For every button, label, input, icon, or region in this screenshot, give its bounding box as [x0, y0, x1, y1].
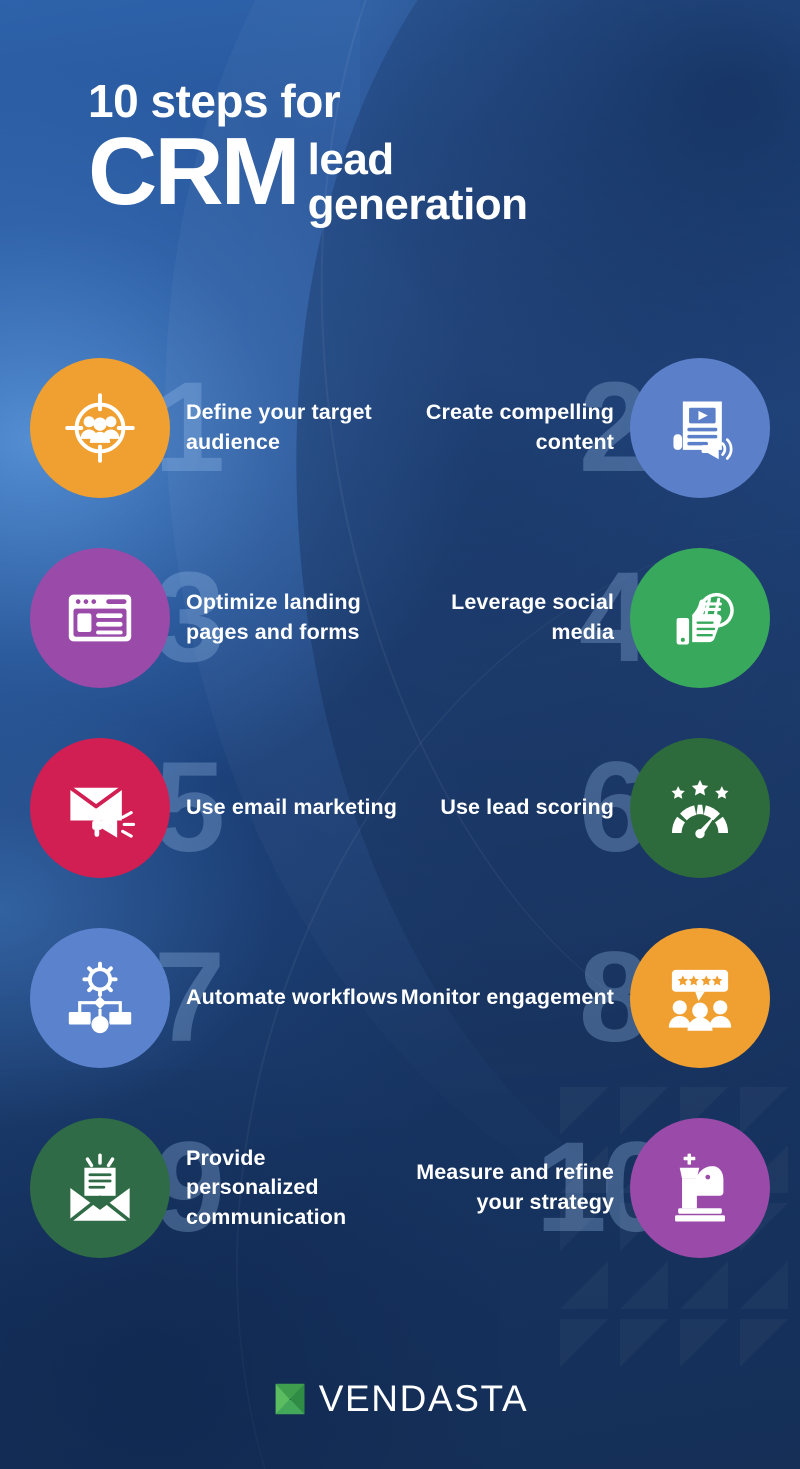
step-label-5: Use email marketing: [176, 793, 407, 823]
step-label-8: Monitor engagement: [391, 983, 624, 1013]
step-label-7: Automate workflows: [176, 983, 408, 1013]
open-envelope-letter-icon: [61, 1149, 139, 1227]
infographic-header: 10 steps for CRM lead generation: [88, 78, 748, 228]
step-icon-circle-9: [30, 1118, 170, 1258]
chess-pieces-icon: [661, 1149, 739, 1227]
footer-branding: VENDASTA: [0, 1380, 800, 1417]
step-icon-circle-7: [30, 928, 170, 1068]
step-icon-circle-4: [630, 548, 770, 688]
step-item-2[interactable]: 2: [390, 348, 770, 508]
step-item-10[interactable]: 10 Measure and refine your strategy: [390, 1108, 770, 1268]
step-icon-circle-10: [630, 1118, 770, 1258]
header-subtitle-generation: generation: [308, 182, 528, 227]
step-item-9[interactable]: 9: [30, 1108, 410, 1268]
steps-row: 5: [0, 728, 800, 918]
step-label-2: Create compelling content: [390, 398, 624, 457]
steps-row: 7: [0, 918, 800, 1108]
people-rating-icon: [661, 959, 739, 1037]
step-label-6: Use lead scoring: [430, 793, 624, 823]
step-item-5[interactable]: 5: [30, 728, 410, 888]
steps-row: 3 Optimize landing: [0, 538, 800, 728]
step-label-9: Provide personalized communication: [176, 1144, 410, 1233]
steps-row: 9: [0, 1108, 800, 1298]
thumbs-up-hashtag-icon: [661, 579, 739, 657]
step-icon-circle-3: [30, 548, 170, 688]
header-subtitle-lead: lead: [308, 137, 528, 182]
step-icon-circle-6: [630, 738, 770, 878]
header-brand-crm: CRM: [88, 130, 298, 214]
step-item-6[interactable]: 6: [390, 728, 770, 888]
step-icon-circle-1: [30, 358, 170, 498]
vendasta-wordmark: VENDASTA: [319, 1380, 529, 1417]
step-item-8[interactable]: 8: [390, 918, 770, 1078]
step-item-3[interactable]: 3 Optimize landing: [30, 538, 410, 698]
step-label-3: Optimize landing pages and forms: [176, 588, 410, 647]
landing-page-icon: [61, 579, 139, 657]
step-icon-circle-5: [30, 738, 170, 878]
step-label-10: Measure and refine your strategy: [390, 1158, 624, 1217]
step-icon-circle-2: [630, 358, 770, 498]
step-label-1: Define your target audience: [176, 398, 410, 457]
step-item-4[interactable]: 4: [390, 538, 770, 698]
target-audience-icon: [61, 389, 139, 467]
document-video-megaphone-icon: [661, 389, 739, 467]
step-item-1[interactable]: 1 Define your target audience: [30, 348, 410, 508]
steps-list: 1 Define your target audience: [0, 348, 800, 1298]
gauge-stars-icon: [661, 769, 739, 847]
step-item-7[interactable]: 7: [30, 918, 410, 1078]
envelope-megaphone-icon: [61, 769, 139, 847]
gear-workflow-icon: [61, 959, 139, 1037]
vendasta-logo-mark: [272, 1381, 308, 1417]
steps-row: 1 Define your target audience: [0, 348, 800, 538]
step-label-4: Leverage social media: [390, 588, 624, 647]
step-icon-circle-8: [630, 928, 770, 1068]
